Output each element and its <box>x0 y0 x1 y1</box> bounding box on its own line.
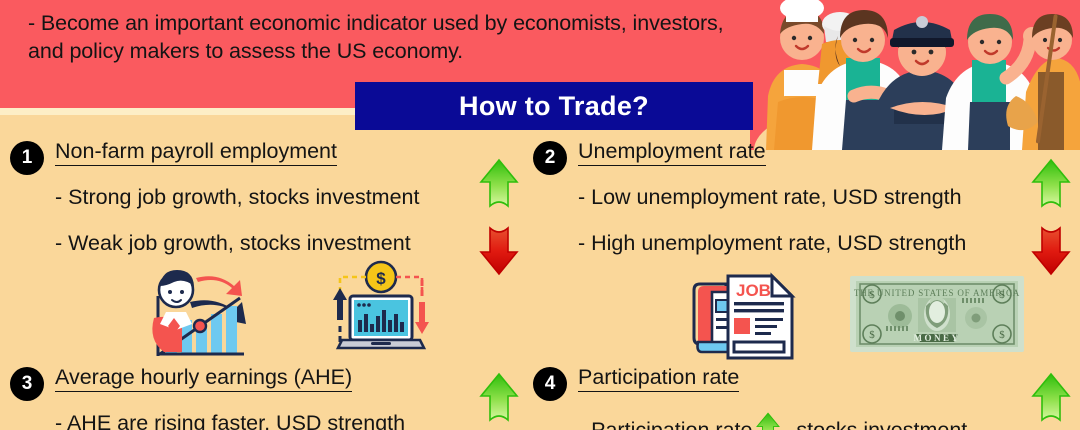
item-3-arrow-up-icon <box>478 372 520 428</box>
infographic-canvas: - Become an important economic indicator… <box>0 0 1080 430</box>
item-2-title: Unemployment rate <box>578 140 766 166</box>
businessman-growth-chart-icon <box>140 262 258 365</box>
item-2-arrow-down-icon <box>1030 220 1072 276</box>
intro-text: - Become an important economic indicator… <box>28 10 748 65</box>
item-1-line-1: - Strong job growth, stocks investment <box>55 186 540 210</box>
item-4-title: Participation rate <box>578 366 739 392</box>
job-resume-document-icon: JOB <box>686 268 806 369</box>
item-4-line-1: - Participation rate, stocks investment <box>578 412 1080 430</box>
item-4-inline-arrow-up-icon <box>755 412 781 430</box>
item-1-badge: 1 <box>10 141 44 175</box>
item-4-line-1-after: , stocks investment <box>784 418 967 430</box>
item-3-title: Average hourly earnings (AHE) <box>55 366 352 392</box>
item-4-badge: 4 <box>533 367 567 401</box>
laptop-stock-chart-icon: $ <box>318 258 444 365</box>
svg-text:$: $ <box>376 269 386 288</box>
item-3-block: 3 Average hourly earnings (AHE) - AHE ar… <box>10 366 540 430</box>
item-1-line-2: - Weak job growth, stocks investment <box>55 232 540 256</box>
item-4-line-1-before: - Participation rate <box>578 418 752 430</box>
item-2-arrow-up-icon <box>1030 158 1072 214</box>
dollar-bill-icon: THE UNITED STATES OF AMERICA $ $ $ $ MON… <box>848 272 1026 361</box>
how-to-trade-banner: How to Trade? <box>355 82 753 130</box>
money-bottom-text: MONEY <box>914 333 961 343</box>
item-4-header: 4 Participation rate <box>533 366 1080 401</box>
item-1-arrow-down-icon <box>478 220 520 276</box>
job-label: JOB <box>736 281 771 300</box>
item-1-block: 1 Non-farm payroll employment - Strong j… <box>10 140 540 255</box>
svg-text:$: $ <box>869 329 875 341</box>
item-3-header: 3 Average hourly earnings (AHE) <box>10 366 540 401</box>
item-3-badge: 3 <box>10 367 44 401</box>
item-2-badge: 2 <box>533 141 567 175</box>
svg-text:$: $ <box>999 329 1005 341</box>
svg-text:$: $ <box>869 289 875 301</box>
item-2-header: 2 Unemployment rate <box>533 140 1080 175</box>
workers-group-illustration <box>750 0 1080 150</box>
item-4-block: 4 Participation rate - Participation rat… <box>533 366 1080 430</box>
how-to-trade-label: How to Trade? <box>459 91 649 122</box>
item-2-block: 2 Unemployment rate - Low unemployment r… <box>533 140 1080 255</box>
item-4-arrow-up-icon <box>1030 372 1072 428</box>
item-2-line-2: - High unemployment rate, USD strength <box>578 232 1080 256</box>
item-1-header: 1 Non-farm payroll employment <box>10 140 540 175</box>
svg-text:$: $ <box>999 289 1005 301</box>
item-3-line-1: - AHE are rising faster, USD strength <box>55 412 540 430</box>
item-2-line-1: - Low unemployment rate, USD strength <box>578 186 1080 210</box>
item-1-title: Non-farm payroll employment <box>55 140 337 166</box>
item-1-arrow-up-icon <box>478 158 520 214</box>
